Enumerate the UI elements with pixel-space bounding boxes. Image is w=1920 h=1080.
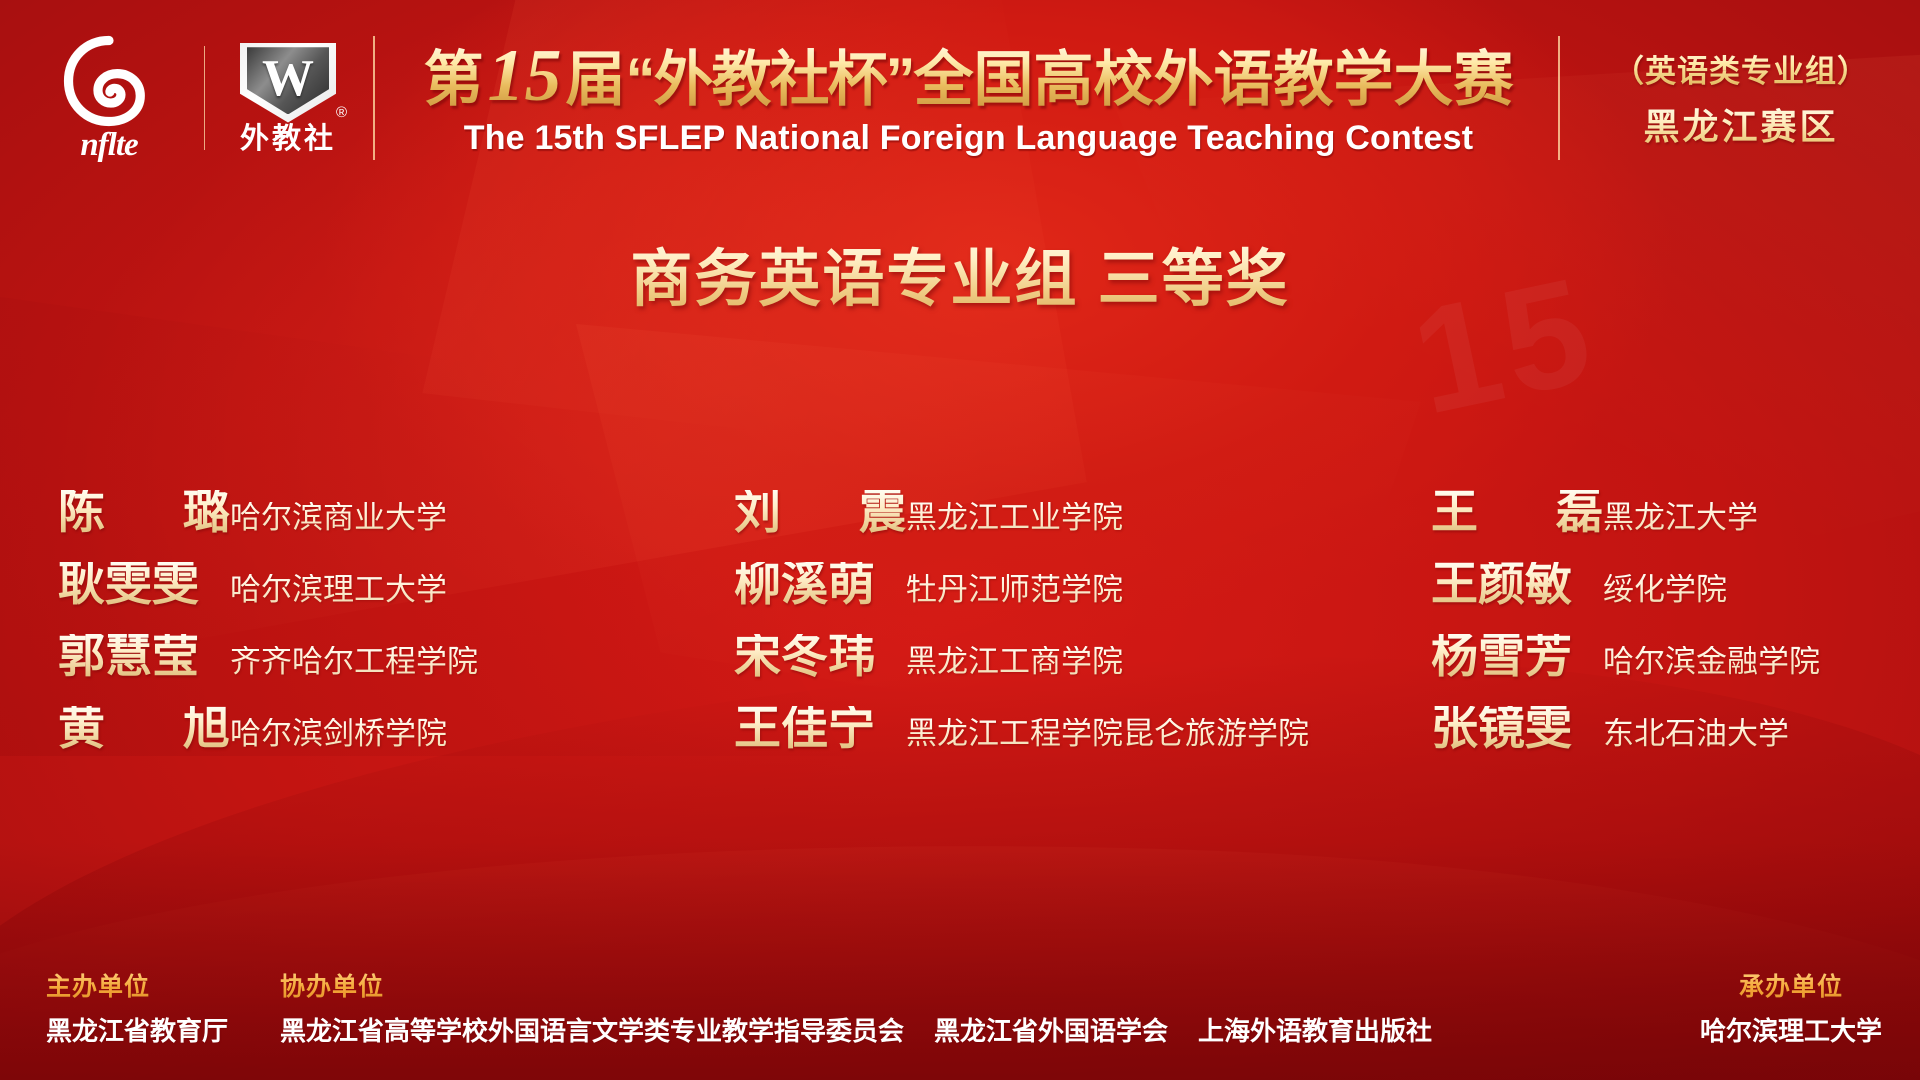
winner-name: 王佳宁 [734, 706, 906, 753]
press-wordmark: 外教社 [225, 125, 351, 154]
list-item: 耿雯雯 哈尔滨理工大学 [58, 562, 652, 634]
list-item: 郭慧莹 齐齐哈尔工程学院 [58, 634, 652, 706]
winner-name: 张镜雯 [1431, 706, 1603, 753]
co-organizer-list: 黑龙江省高等学校外国语言文学类专业教学指导委员会 黑龙江省外国语学会 上海外语教… [280, 1011, 1432, 1048]
banner-header: nflte W ® 外教社 第15届“外教社杯”全国高校外语教学大赛 The 1… [0, 0, 1920, 196]
contest-title-group: 第15届“外教社杯”全国高校外语教学大赛 The 15th SFLEP Nati… [401, 38, 1536, 159]
organizer-label: 主办单位 [46, 967, 228, 1003]
winner-surname: 耿雯雯 [58, 562, 199, 609]
winner-surname: 宋冬玮 [734, 634, 875, 681]
list-item: 陈 璐 哈尔滨商业大学 [58, 490, 652, 562]
category-group-label: （英语类专业组） [1596, 46, 1886, 91]
logo-divider [204, 46, 205, 150]
winner-school: 黑龙江工程学院昆仑旅游学院 [906, 718, 1309, 749]
organizer-group: 主办单位 黑龙江省教育厅 [38, 967, 228, 1048]
winners-list: 陈 璐 哈尔滨商业大学 耿雯雯 哈尔滨理工大学 郭慧莹 齐齐哈尔工程学院 黄 旭 [0, 490, 1920, 778]
page-title: 商务英语专业组 三等奖 [0, 228, 1920, 318]
co-organizer-label: 协办单位 [280, 967, 1432, 1003]
winner-name: 刘 震 [734, 490, 906, 537]
title-edition-unit: 届 [566, 46, 626, 113]
list-item: 柳溪萌 牡丹江师范学院 [734, 562, 1309, 634]
winner-school: 黑龙江工业学院 [906, 502, 1123, 533]
winner-surname: 张镜雯 [1431, 706, 1572, 753]
winner-name: 陈 璐 [58, 490, 230, 537]
winner-school: 哈尔滨商业大学 [230, 502, 447, 533]
title-suffix: 全国高校外语教学大赛 [914, 46, 1514, 113]
winner-name: 耿雯雯 [58, 562, 230, 609]
registered-trademark-icon: ® [336, 104, 347, 121]
winners-column-3: 王 磊 黑龙江大学 王颜敏 绥化学院 杨雪芳 哈尔滨金融学院 张镜雯 东北石 [1309, 490, 1920, 778]
title-edition-number: 15 [484, 35, 566, 117]
winner-surname: 刘 [734, 490, 781, 537]
co-organizer-name: 上海外语教育出版社 [1198, 1011, 1432, 1048]
winner-given-name: 璐 [183, 490, 230, 537]
winner-school: 牡丹江师范学院 [906, 574, 1123, 605]
title-prefix: 第 [424, 46, 484, 113]
winner-surname: 柳溪萌 [734, 562, 875, 609]
winner-surname: 郭慧莹 [58, 634, 199, 681]
list-item: 黄 旭 哈尔滨剑桥学院 [58, 706, 652, 778]
winner-given-name: 震 [859, 490, 906, 537]
host-label: 承办单位 [1700, 967, 1882, 1003]
winner-school: 哈尔滨剑桥学院 [230, 718, 447, 749]
logo-group: nflte W ® 外教社 [34, 35, 351, 162]
region-group: （英语类专业组） 黑龙江赛区 [1586, 46, 1886, 150]
winner-school: 黑龙江大学 [1603, 502, 1758, 533]
list-item: 张镜雯 东北石油大学 [1431, 706, 1920, 778]
co-organizer-group: 协办单位 黑龙江省高等学校外国语言文学类专业教学指导委员会 黑龙江省外国语学会 … [228, 967, 1432, 1048]
list-item: 王 磊 黑龙江大学 [1431, 490, 1920, 562]
winner-name: 郭慧莹 [58, 634, 230, 681]
winner-name: 柳溪萌 [734, 562, 906, 609]
winner-name: 杨雪芳 [1431, 634, 1603, 681]
winner-surname: 王佳宁 [734, 706, 875, 753]
winners-column-2: 刘 震 黑龙江工业学院 柳溪萌 牡丹江师范学院 宋冬玮 黑龙江工商学院 王佳宁 [652, 490, 1309, 778]
list-item: 王佳宁 黑龙江工程学院昆仑旅游学院 [734, 706, 1309, 778]
header-divider-right [1558, 36, 1560, 160]
nflte-logo: nflte [34, 35, 184, 162]
w-shield-letter: W [262, 53, 314, 105]
header-divider-left [373, 36, 375, 160]
winner-surname: 杨雪芳 [1431, 634, 1572, 681]
winners-column-1: 陈 璐 哈尔滨商业大学 耿雯雯 哈尔滨理工大学 郭慧莹 齐齐哈尔工程学院 黄 旭 [36, 490, 652, 778]
winner-surname: 王颜敏 [1431, 562, 1572, 609]
swirl-logo-icon [63, 35, 155, 127]
winner-school: 东北石油大学 [1603, 718, 1789, 749]
organizer-name: 黑龙江省教育厅 [46, 1011, 228, 1048]
title-quoted-name: “外教社杯” [626, 46, 914, 113]
nflte-wordmark: nflte [34, 129, 184, 162]
winner-school: 哈尔滨金融学院 [1603, 646, 1820, 677]
list-item: 王颜敏 绥化学院 [1431, 562, 1920, 634]
winner-name: 王颜敏 [1431, 562, 1603, 609]
co-organizer-name: 黑龙江省高等学校外国语言文学类专业教学指导委员会 [280, 1011, 904, 1048]
winner-surname: 黄 [58, 706, 105, 753]
region-zone-label: 黑龙江赛区 [1596, 98, 1886, 150]
list-item: 杨雪芳 哈尔滨金融学院 [1431, 634, 1920, 706]
winner-name: 黄 旭 [58, 706, 230, 753]
host-group: 承办单位 哈尔滨理工大学 [1700, 967, 1882, 1048]
host-name: 哈尔滨理工大学 [1700, 1011, 1882, 1048]
host-list: 哈尔滨理工大学 [1700, 1011, 1882, 1048]
list-item: 刘 震 黑龙江工业学院 [734, 490, 1309, 562]
winner-school: 黑龙江工商学院 [906, 646, 1123, 677]
winner-surname: 王 [1431, 490, 1478, 537]
winner-given-name: 磊 [1556, 490, 1603, 537]
winner-given-name: 旭 [183, 706, 230, 753]
contest-title-cn: 第15届“外教社杯”全国高校外语教学大赛 [401, 38, 1536, 116]
co-organizer-name: 黑龙江省外国语学会 [934, 1011, 1168, 1048]
winner-name: 王 磊 [1431, 490, 1603, 537]
organizer-list: 黑龙江省教育厅 [46, 1011, 228, 1048]
list-item: 宋冬玮 黑龙江工商学院 [734, 634, 1309, 706]
winner-school: 绥化学院 [1603, 574, 1727, 605]
winner-surname: 陈 [58, 490, 105, 537]
winner-school: 哈尔滨理工大学 [230, 574, 447, 605]
winner-name: 宋冬玮 [734, 634, 906, 681]
press-logo: W ® 外教社 [225, 43, 351, 154]
contest-title-en: The 15th SFLEP National Foreign Language… [401, 119, 1536, 158]
w-shield-icon: W ® [240, 43, 336, 123]
banner-footer: 主办单位 黑龙江省教育厅 协办单位 黑龙江省高等学校外国语言文学类专业教学指导委… [0, 967, 1920, 1048]
winner-school: 齐齐哈尔工程学院 [230, 646, 478, 677]
